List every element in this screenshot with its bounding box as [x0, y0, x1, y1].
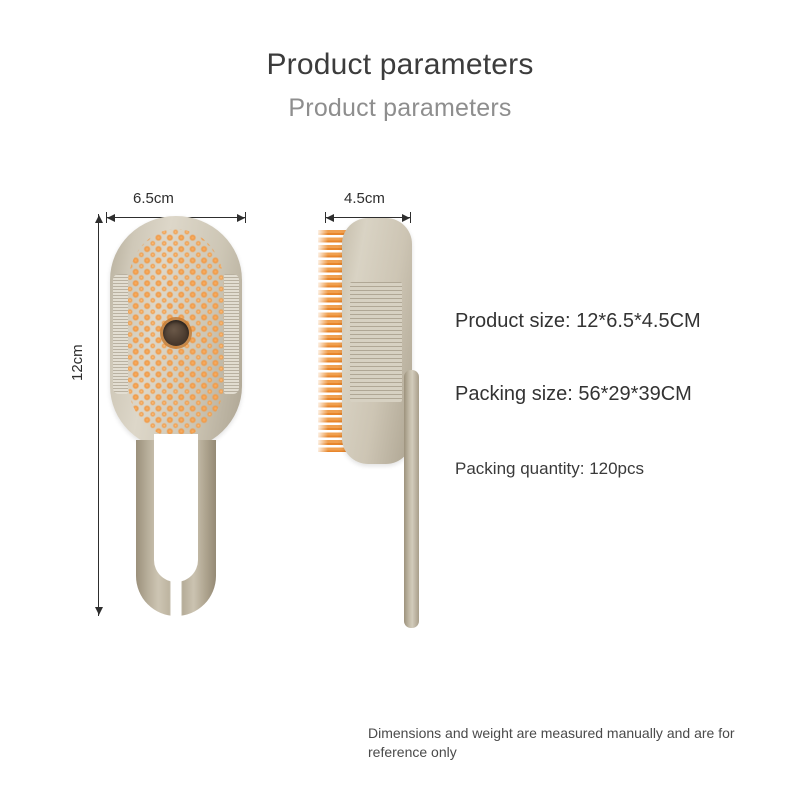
side-comb-ridges — [350, 282, 402, 402]
steam-outlet-hole — [163, 320, 189, 346]
page-subtitle: Product parameters — [0, 94, 800, 123]
spec-packing-quantity: Packing quantity: 120pcs — [455, 459, 644, 479]
comb-teeth-right — [224, 274, 239, 394]
brush-handle-loop — [136, 440, 216, 616]
dimension-label-height: 12cm — [69, 344, 86, 381]
dimension-label-depth: 4.5cm — [344, 190, 385, 207]
comb-teeth-left — [113, 274, 128, 394]
side-handle — [404, 370, 419, 628]
handle-opening — [154, 434, 198, 582]
dimension-label-width: 6.5cm — [133, 190, 174, 207]
product-side-view — [318, 218, 434, 628]
dimension-shaft — [98, 214, 99, 616]
brush-head-shell — [110, 216, 242, 450]
measurement-disclaimer: Dimensions and weight are measured manua… — [368, 724, 768, 762]
product-front-view — [110, 216, 242, 616]
page-title: Product parameters — [0, 48, 800, 82]
arrow-down-icon — [95, 607, 103, 615]
dimension-arrow-height — [93, 214, 105, 616]
arrow-up-icon — [95, 215, 103, 223]
spec-packing-size: Packing size: 56*29*39CM — [455, 383, 692, 406]
silicone-bristle-pad — [128, 229, 224, 437]
spec-product-size: Product size: 12*6.5*4.5CM — [455, 310, 701, 333]
